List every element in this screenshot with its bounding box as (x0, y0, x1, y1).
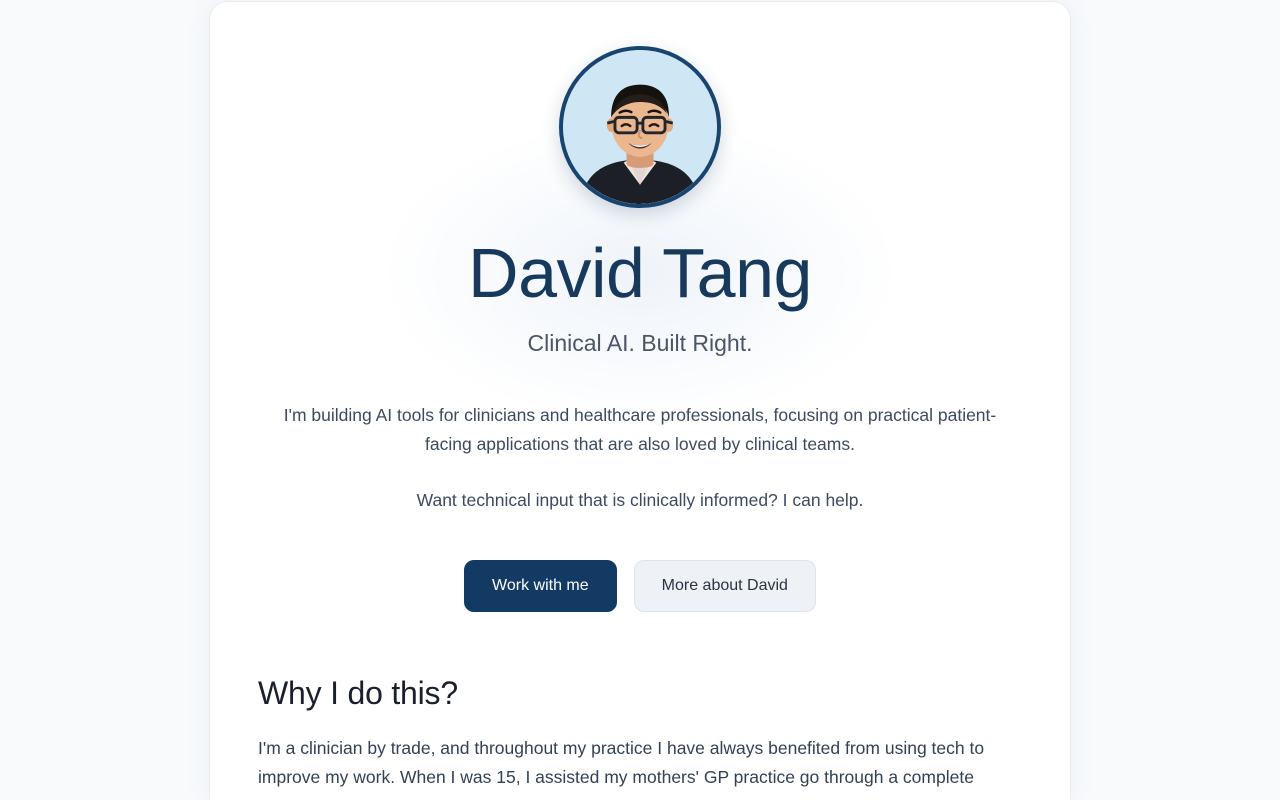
profile-card: David Tang Clinical AI. Built Right. I'm… (209, 1, 1071, 800)
avatar-container (258, 46, 1022, 208)
tagline: Clinical AI. Built Right. (258, 330, 1022, 357)
more-about-david-button[interactable]: More about David (634, 560, 816, 612)
hero-actions: Work with me More about David (258, 560, 1022, 612)
page-root: David Tang Clinical AI. Built Right. I'm… (0, 0, 1280, 800)
why-section: Why I do this? I'm a clinician by trade,… (258, 675, 1022, 800)
page-title: David Tang (258, 236, 1022, 310)
why-paragraph-1: I'm a clinician by trade, and throughout… (258, 734, 1022, 800)
card-inner: David Tang Clinical AI. Built Right. I'm… (210, 2, 1070, 800)
intro-paragraph-2: Want technical input that is clinically … (270, 486, 1010, 515)
portrait-photo-icon (563, 50, 717, 204)
intro-paragraph-1: I'm building AI tools for clinicians and… (270, 401, 1010, 459)
hero-section: David Tang Clinical AI. Built Right. I'm… (258, 2, 1022, 612)
avatar (559, 46, 721, 208)
work-with-me-button[interactable]: Work with me (464, 560, 617, 612)
why-section-title: Why I do this? (258, 675, 1022, 712)
